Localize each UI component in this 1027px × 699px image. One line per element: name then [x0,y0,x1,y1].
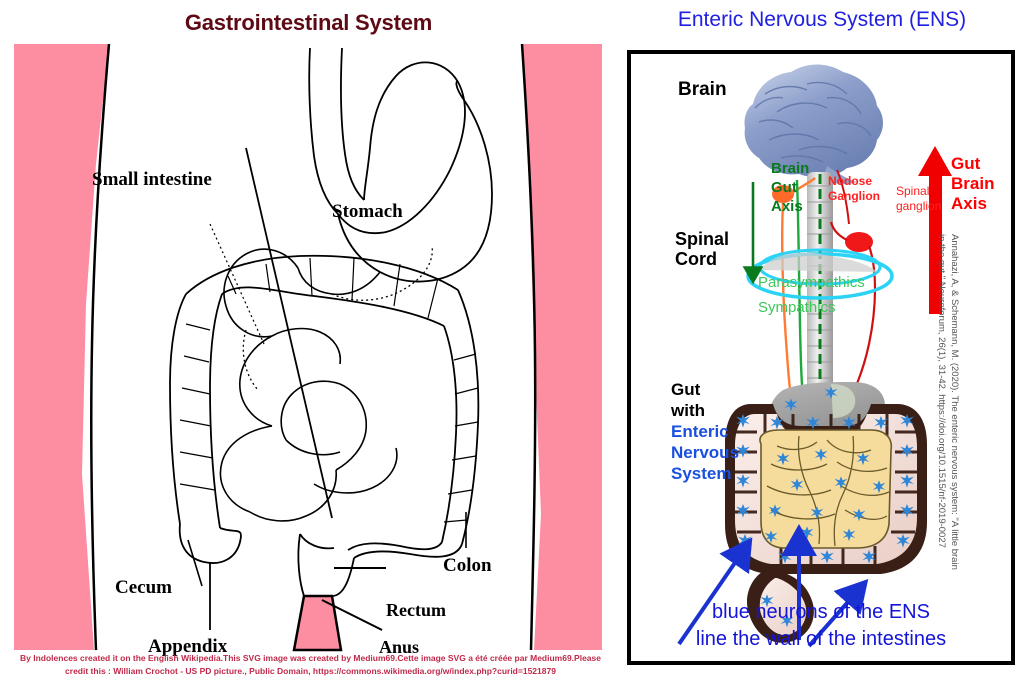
ens-bottom-caption-line2: line the wall of the intestines [631,626,1011,653]
gi-anatomy-figure: Small intestine Stomach Cecum Appendix C… [14,44,602,654]
label-spinal-cord: Spinal Cord [675,229,729,269]
label-nodose-line1: Nodose [828,174,880,189]
label-gut-line3: Enteric [671,421,739,442]
label-gut-brain-axis-line3: Axis [951,194,994,214]
label-brain-gut-axis-line2: Gut [771,178,809,197]
label-nodose-line2: Ganglion [828,189,880,204]
label-spinal-ganglion-line2: ganglion [896,199,941,214]
label-parasympathics: Parasympathics [758,274,865,291]
label-brain: Brain [678,79,727,101]
gi-attribution-caption: By Indolences created it on the English … [8,652,613,678]
spinal-ganglion-dot [845,232,873,252]
label-spinal-cord-line2: Cord [675,249,729,269]
label-brain-gut-axis-line3: Axis [771,197,809,216]
label-gut-line2: with [671,400,739,421]
label-brain-gut-axis-line1: Brain [771,159,809,178]
label-gut-line4: Nervous [671,442,739,463]
label-gut-line1: Gut [671,379,739,400]
label-rectum: Rectum [386,600,446,621]
gi-anatomy-svg [14,44,602,654]
label-spinal-cord-line1: Spinal [675,229,729,249]
label-spinal-ganglion-line1: Spinal [896,184,941,199]
enteric-nervous-system-panel: Enteric Nervous System (ENS) [617,0,1027,699]
ens-citation-text: Annahazi, A, & Schemann, M. (2020). The … [935,234,961,574]
gastrointestinal-system-panel: Gastrointestinal System [0,0,617,699]
ens-bottom-caption-line1: blue neurons of the ENS [631,599,1011,626]
label-gut-brain-axis-line1: Gut [951,154,994,174]
label-cecum: Cecum [115,577,172,599]
label-nodose-ganglion: Nodose Ganglion [828,174,880,204]
label-brain-gut-axis: Brain Gut Axis [771,159,809,216]
label-gut-line5: System [671,463,739,484]
label-small-intestine: Small intestine [92,169,212,191]
label-gut-with-ens: Gut with Enteric Nervous System [671,379,739,484]
ens-figure-frame: Brain Spinal Cord Brain Gut Axis Parasym… [627,50,1015,665]
gi-panel-title: Gastrointestinal System [0,10,617,36]
label-colon: Colon [443,555,492,577]
label-gut-brain-axis: Gut Brain Axis [951,154,994,214]
label-sympathics: Sympathics [758,299,836,316]
label-spinal-ganglion: Spinal ganglion [896,184,941,214]
ens-panel-title: Enteric Nervous System (ENS) [617,8,1027,32]
label-stomach: Stomach [332,201,403,223]
label-gut-brain-axis-line2: Brain [951,174,994,194]
slide-root: Gastrointestinal System [0,0,1027,699]
ens-bottom-caption: blue neurons of the ENS line the wall of… [631,599,1011,653]
